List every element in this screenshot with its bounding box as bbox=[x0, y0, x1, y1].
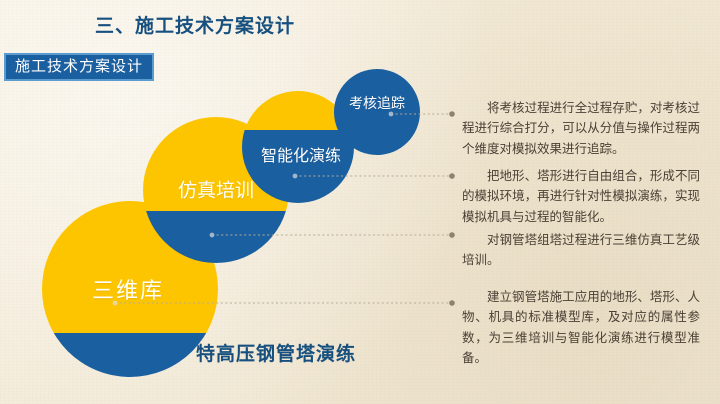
bubble-label-kaohe: 考核追踪 bbox=[349, 93, 405, 113]
description-zhineng: 把地形、塔形进行自由组合，形成不同的模拟环境，再进行针对性模拟演练，实现模拟机具… bbox=[462, 166, 700, 227]
description-kaohe: 将考核过程进行全过程存贮，对考核过程进行综合打分，可以从分值与操作过程两个维度对… bbox=[462, 98, 700, 159]
bottom-caption: 特高压钢管塔演练 bbox=[196, 339, 356, 366]
bubble-label-zhineng: 智能化演练 bbox=[261, 142, 341, 166]
bubble-label-sanwei: 三维库 bbox=[92, 273, 164, 305]
bubble-label-fangzhen: 仿真培训 bbox=[178, 176, 254, 203]
slide-canvas: 三、施工技术方案设计 施工技术方案设计 bbox=[0, 0, 720, 404]
description-fangzhen: 对钢管塔组塔过程进行三维仿真工艺级培训。 bbox=[462, 230, 700, 271]
description-sanwei: 建立钢管塔施工应用的地形、塔形、人物、机具的标准模型库，及对应的属性参数，为三维… bbox=[462, 287, 700, 368]
